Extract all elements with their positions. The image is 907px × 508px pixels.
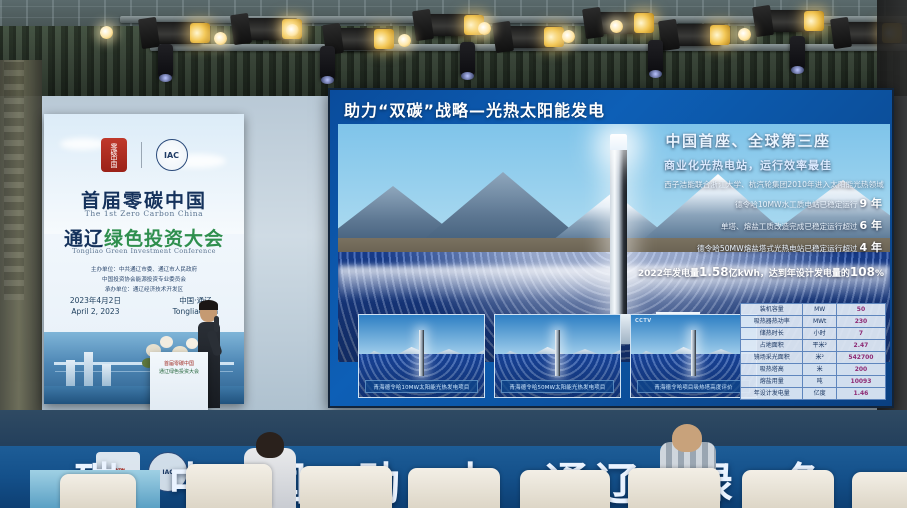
thumb-solar-tower xyxy=(691,330,696,376)
project-thumbnail[interactable]: CCTV 青海德令哈项目吸热塔高度评价 xyxy=(630,314,757,398)
spec-unit: MWt xyxy=(803,316,836,328)
slide-headline: 中国首座、全球第三座 xyxy=(612,130,884,151)
poster-date-cn: 2023年4月2日 xyxy=(70,296,121,307)
light-bulb xyxy=(478,22,491,35)
spec-value: 50 xyxy=(836,304,885,316)
poster-date: 2023年4月2日 April 2, 2023 xyxy=(70,296,121,318)
slide-subheadline: 商业化光热电站，运行效率最佳 xyxy=(612,157,884,173)
spec-name: 年设计发电量 xyxy=(741,388,803,400)
spec-name: 吸热器热功率 xyxy=(741,316,803,328)
stage-curtain xyxy=(0,26,907,96)
audience-chair xyxy=(60,474,136,508)
light-bulb xyxy=(562,30,575,43)
light-bulb xyxy=(610,20,623,33)
project-thumbnail[interactable]: 青海德令哈50MW太阳能光热发电项目 xyxy=(494,314,621,398)
table-row: 镜场采光面积 米² 542700 xyxy=(741,352,886,364)
light-bulb xyxy=(214,32,227,45)
spotlight xyxy=(320,46,335,80)
podium-line-1: 首届零碳中国 xyxy=(154,360,204,368)
spec-unit: 吨 xyxy=(803,376,836,388)
spotlight xyxy=(648,40,663,74)
slide-bullet: 西子洁能联合浙江大学、杭汽轮集团2010年进入太阳能光热领域 xyxy=(612,180,884,190)
flower xyxy=(160,336,173,348)
poster-logo-row: 零碳中国 IAC xyxy=(44,134,244,176)
organizer-line: 承办单位：通辽经济技术开发区 xyxy=(44,286,244,296)
logo-divider xyxy=(141,142,142,168)
spec-name: 储热时长 xyxy=(741,328,803,340)
flower xyxy=(186,338,198,349)
poster-building xyxy=(102,364,111,386)
audience-chair xyxy=(408,468,500,508)
audience-chair xyxy=(520,470,610,508)
organizer-line: 主办单位：中共通辽市委、通辽市人民政府 xyxy=(44,266,244,276)
audience-chair xyxy=(300,466,392,508)
light-bulb xyxy=(738,28,751,41)
light-bulb xyxy=(100,26,113,39)
footer-generation-value: 1.58 xyxy=(699,265,729,279)
spec-unit: MW xyxy=(803,304,836,316)
poster-organizers: 主办单位：中共通辽市委、通辽市人民政府 中国投资协会能源投资专业委员会 承办单位… xyxy=(44,266,244,295)
thumbnail-caption: 青海德令哈10MW太阳能光热发电项目 xyxy=(365,380,478,393)
spec-value: 7 xyxy=(836,328,885,340)
zero-carbon-seal-icon: 零碳中国 xyxy=(101,138,127,172)
poster-building xyxy=(84,352,93,386)
bullet-value: 6 年 xyxy=(858,219,884,232)
podium-banner-text: 首届零碳中国 通辽绿色投资大会 xyxy=(154,360,204,396)
table-row: 储热时长 小时 7 xyxy=(741,328,886,340)
cctv-watermark-icon: CCTV xyxy=(635,318,652,324)
led-presentation-screen[interactable]: 助力“双碳”战略—光热太阳能发电 xyxy=(328,88,894,408)
spec-unit: 亿度 xyxy=(803,388,836,400)
spec-value: 542700 xyxy=(836,352,885,364)
footer-percent-value: 108 xyxy=(850,265,875,279)
thumb-solar-tower xyxy=(555,330,560,376)
slide-text-column: 中国首座、全球第三座 商业化光热电站，运行效率最佳 西子洁能联合浙江大学、杭汽轮… xyxy=(612,130,884,279)
microphone-icon xyxy=(214,316,219,332)
bullet-value: 9 年 xyxy=(858,197,884,210)
light-bulb xyxy=(286,24,299,37)
poster-building xyxy=(66,360,75,386)
ceiling-truss-area xyxy=(0,0,907,96)
spotlight xyxy=(158,44,173,78)
spotlight xyxy=(460,42,475,76)
spec-value: 2.47 xyxy=(836,340,885,352)
slide-bullet: 单塔、熔盐工质改造完成已稳定运行超过6 年 xyxy=(612,219,884,234)
thumb-solar-tower xyxy=(419,330,424,376)
table-row: 吸热器热功率 MWt 230 xyxy=(741,316,886,328)
spec-value: 200 xyxy=(836,364,885,376)
light-bulb xyxy=(398,34,411,47)
audience-chair xyxy=(628,468,720,508)
poster-subtitle-en: Tongliao Green Investment Conference xyxy=(44,247,244,255)
spec-value: 1.46 xyxy=(836,388,885,400)
poster-title-en: The 1st Zero Carbon China xyxy=(44,209,244,218)
spotlight xyxy=(790,36,805,70)
spec-value: 230 xyxy=(836,316,885,328)
organizer-line: 中国投资协会能源投资专业委员会 xyxy=(44,276,244,286)
spec-name: 装机容量 xyxy=(741,304,803,316)
conference-stage-scene: 零碳中国 IAC 首届零碳中国 The 1st Zero Carbon Chin… xyxy=(0,0,907,508)
speaker-hair xyxy=(199,300,218,310)
audience-chair xyxy=(186,464,272,508)
spec-name: 镜场采光面积 xyxy=(741,352,803,364)
podium-line-2: 通辽绿色投资大会 xyxy=(154,368,204,376)
slide-footer-stat: 2022年发电量1.58亿kWh，达到年设计发电量的108% xyxy=(612,265,884,279)
table-row: 装机容量 MW 50 xyxy=(741,304,886,316)
table-row: 占地面积 平米² 2.47 xyxy=(741,340,886,352)
presentation-slide: 助力“双碳”战略—光热太阳能发电 xyxy=(330,90,892,406)
thumbnail-caption: 青海德令哈50MW太阳能光热发电项目 xyxy=(501,380,614,393)
spec-name: 占地面积 xyxy=(741,340,803,352)
bullet-value: 4 年 xyxy=(858,241,884,254)
plant-spec-table: 装机容量 MW 50 吸热器热功率 MWt 230 储热时长 小时 7 占地面积… xyxy=(740,303,886,400)
table-row: 熔盐用量 吨 10093 xyxy=(741,376,886,388)
audience-chair xyxy=(742,470,834,508)
audience-chair xyxy=(852,472,907,508)
audience-person-head xyxy=(672,424,702,452)
project-thumbnail[interactable]: 青海德令哈10MW太阳能光热发电项目 xyxy=(358,314,485,398)
thumbnail-caption: 青海德令哈项目吸热塔高度评价 xyxy=(637,380,750,393)
slide-title: 助力“双碳”战略—光热太阳能发电 xyxy=(344,97,605,121)
bullet-text: 德令哈10MW水工质电站已稳定运行 xyxy=(735,200,857,209)
slide-thumbnail-row: 青海德令哈10MW太阳能光热发电项目 青海德令哈50MW太阳能光热发电项目 CC… xyxy=(358,314,758,398)
spec-value: 10093 xyxy=(836,376,885,388)
poster-date-en: April 2, 2023 xyxy=(70,307,121,318)
audience-person-head xyxy=(256,432,284,458)
bullet-text: 单塔、熔盐工质改造完成已稳定运行超过 xyxy=(721,222,858,231)
spec-unit: 小时 xyxy=(803,328,836,340)
table-row: 吸热塔高 米 200 xyxy=(741,364,886,376)
footer-middle: 亿kWh，达到年设计发电量的 xyxy=(729,269,850,279)
spec-unit: 米² xyxy=(803,352,836,364)
footer-prefix: 2022年发电量 xyxy=(638,269,699,279)
table-row: 年设计发电量 亿度 1.46 xyxy=(741,388,886,400)
footer-unit: % xyxy=(875,269,884,279)
spec-name: 熔盐用量 xyxy=(741,376,803,388)
slide-bullet: 德令哈10MW水工质电站已稳定运行9 年 xyxy=(612,197,884,212)
slide-bullet: 德令哈50MW熔盐塔式光热电站已稳定运行超过4 年 xyxy=(612,241,884,256)
spec-unit: 平米² xyxy=(803,340,836,352)
iac-badge-icon: IAC xyxy=(156,139,188,171)
bullet-text: 西子洁能联合浙江大学、杭汽轮集团2010年进入太阳能光热领域 xyxy=(664,180,884,189)
spec-name: 吸热塔高 xyxy=(741,364,803,376)
spec-unit: 米 xyxy=(803,364,836,376)
bullet-text: 德令哈50MW熔盐塔式光热电站已稳定运行超过 xyxy=(697,244,857,253)
